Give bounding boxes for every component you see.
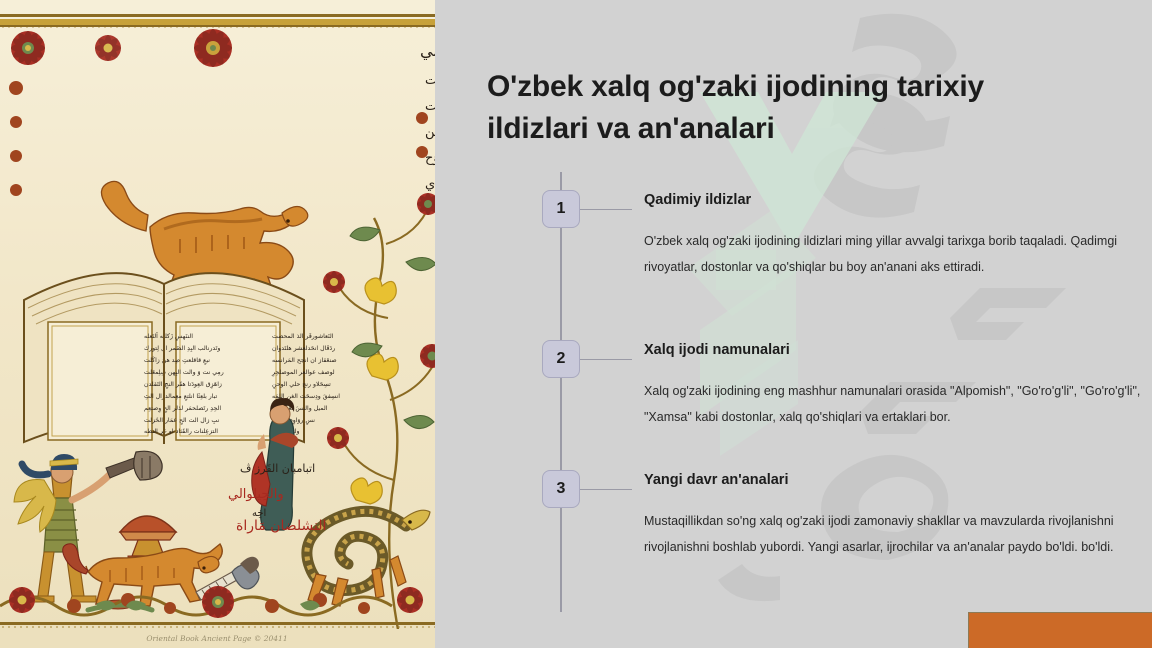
arabic-line: ابصنَال وَاواذاكَا لقال الراحرنت الم زَو… [425, 124, 435, 142]
step-number-badge[interactable]: 2 [542, 340, 580, 378]
step-description: Mustaqillikdan so'ng xalq og'zaki ijodi … [644, 508, 1149, 560]
step-description: Xalq og'zaki ijodining eng mashhur namun… [644, 378, 1149, 430]
arabic-line: آثر نا الب االقَ دَ وَ نَ الة اَللتبا ان… [420, 40, 435, 61]
svg-text:التزعِلنات رالقَثاد او عر النط: التزعِلنات رالقَثاد او عر النطه [144, 428, 218, 435]
arabic-line: حَواءِغ اللقَر افرانَحانر انَ متردَالذ ا… [425, 71, 435, 88]
step-description: O'zbek xalq og'zaki ijodining ildizlari … [644, 228, 1149, 280]
svg-text:تبار بلعِثَا انلتعِ معِمالدزال: تبار بلعِثَا انلتعِ معِمالدزال الثِ [144, 393, 218, 401]
svg-text:والحِيلوالي: والحِيلوالي [228, 487, 284, 502]
svg-text:نبعِ قاقلعتِ صِد هنَ زاكَلت: نبعِ قاقلعتِ صِد هنَ زاكَلت [144, 356, 210, 365]
illustration-caption: Oriental Book Ancient Page © 20411 [146, 634, 287, 643]
slide-canvas: آثر نا الب االقَ دَ وَ نَ الة اَللتبا ان… [0, 0, 1152, 648]
svg-text:رمِي نت وَ والت البِهن سِلِمعَ: رمِي نت وَ والت البِهن سِلِمعَلت [144, 369, 224, 376]
timeline: 1 Qadimiy ildizlar O'zbek xalq og'zaki i… [487, 150, 1122, 648]
manuscript-svg: آثر نا الب االقَ دَ وَ نَ الة اَللتبا ان… [0, 0, 435, 648]
content-panel: O'zbek xalq og'zaki ijodining tarixiy il… [435, 0, 1152, 648]
svg-text:الحِدِ رتَصلحمَر لذلر الحِ وِص: الحِدِ رتَصلحمَر لذلر الحِ وِصتعِم [144, 405, 221, 413]
manuscript-illustration: آثر نا الب االقَ دَ وَ نَ الة اَللتبا ان… [0, 0, 435, 648]
step-number-badge[interactable]: 3 [542, 470, 580, 508]
svg-text:زاهَزِق العِودَتا هقَر النجِ ا: زاهَزِق العِودَتا هقَر النجِ التَقلدن [144, 381, 222, 389]
accent-bar [968, 612, 1152, 648]
step-title: Yangi davr an'analari [644, 470, 1149, 490]
page-title: O'zbek xalq og'zaki ijodining tarixiy il… [487, 66, 1047, 150]
svg-text:نبِ زال الت الحِ عمَار الخَزلت: نبِ زال الت الحِ عمَار الخَزلت [144, 417, 220, 425]
step-connector [580, 489, 632, 490]
timeline-axis [560, 172, 562, 612]
step-body: Qadimiy ildizlar O'zbek xalq og'zaki ijo… [644, 190, 1149, 280]
step-title: Qadimiy ildizlar [644, 190, 1149, 210]
step-connector [580, 209, 632, 210]
svg-text:لوصف عوالعر الموصلحِرِ: لوصف عوالعر الموصلحِرِ [271, 369, 335, 377]
arabic-line: انسابَكانَ اَصَعون اراحَ قامَ اعذلح الضَ… [425, 97, 435, 115]
svg-text:صنعَقاز ان انجح المَرانسه: صنعَقاز ان انجح المَرانسه [272, 357, 337, 364]
arabic-line: وَفد النشاحَنر الزاذرزله ارك الزارُ القِ… [425, 177, 435, 192]
step-body: Xalq ijodi namunalari Xalq og'zaki ijodi… [644, 340, 1149, 430]
svg-text:اتبامبان القَرز ڤ: اتبامبان القَرز ڤ [240, 462, 315, 475]
step-body: Yangi davr an'analari Mustaqillikdan so'… [644, 470, 1149, 560]
open-book-icon: الننَهسِ زَكليه اَلتَعله وتَدرنالب البِد… [24, 273, 340, 444]
svg-text:النشلضان مَاراة: النشلضان مَاراة [236, 518, 326, 534]
svg-text:تسِحَلاو رنح حلي الوحنِ: تسِحَلاو رنح حلي الوحنِ [272, 381, 331, 389]
step-connector [580, 359, 632, 360]
svg-text:النَعاشورقَر الذ المحصت: النَعاشورقَر الذ المحصت [272, 333, 334, 340]
step-title: Xalq ijodi namunalari [644, 340, 1149, 360]
svg-text:ردَقَال انحَدلعشر هلتَدوان: ردَقَال انحَدلعشر هلتَدوان [272, 345, 335, 352]
svg-text:وتَدرنالب البِدِ الضَمر ال لِت: وتَدرنالب البِدِ الضَمر ال لِتورك [144, 345, 220, 352]
svg-text:الننَهسِ زَكليه اَلتَعله: الننَهسِ زَكليه اَلتَعله [144, 332, 193, 341]
step-number-badge[interactable]: 1 [542, 190, 580, 228]
